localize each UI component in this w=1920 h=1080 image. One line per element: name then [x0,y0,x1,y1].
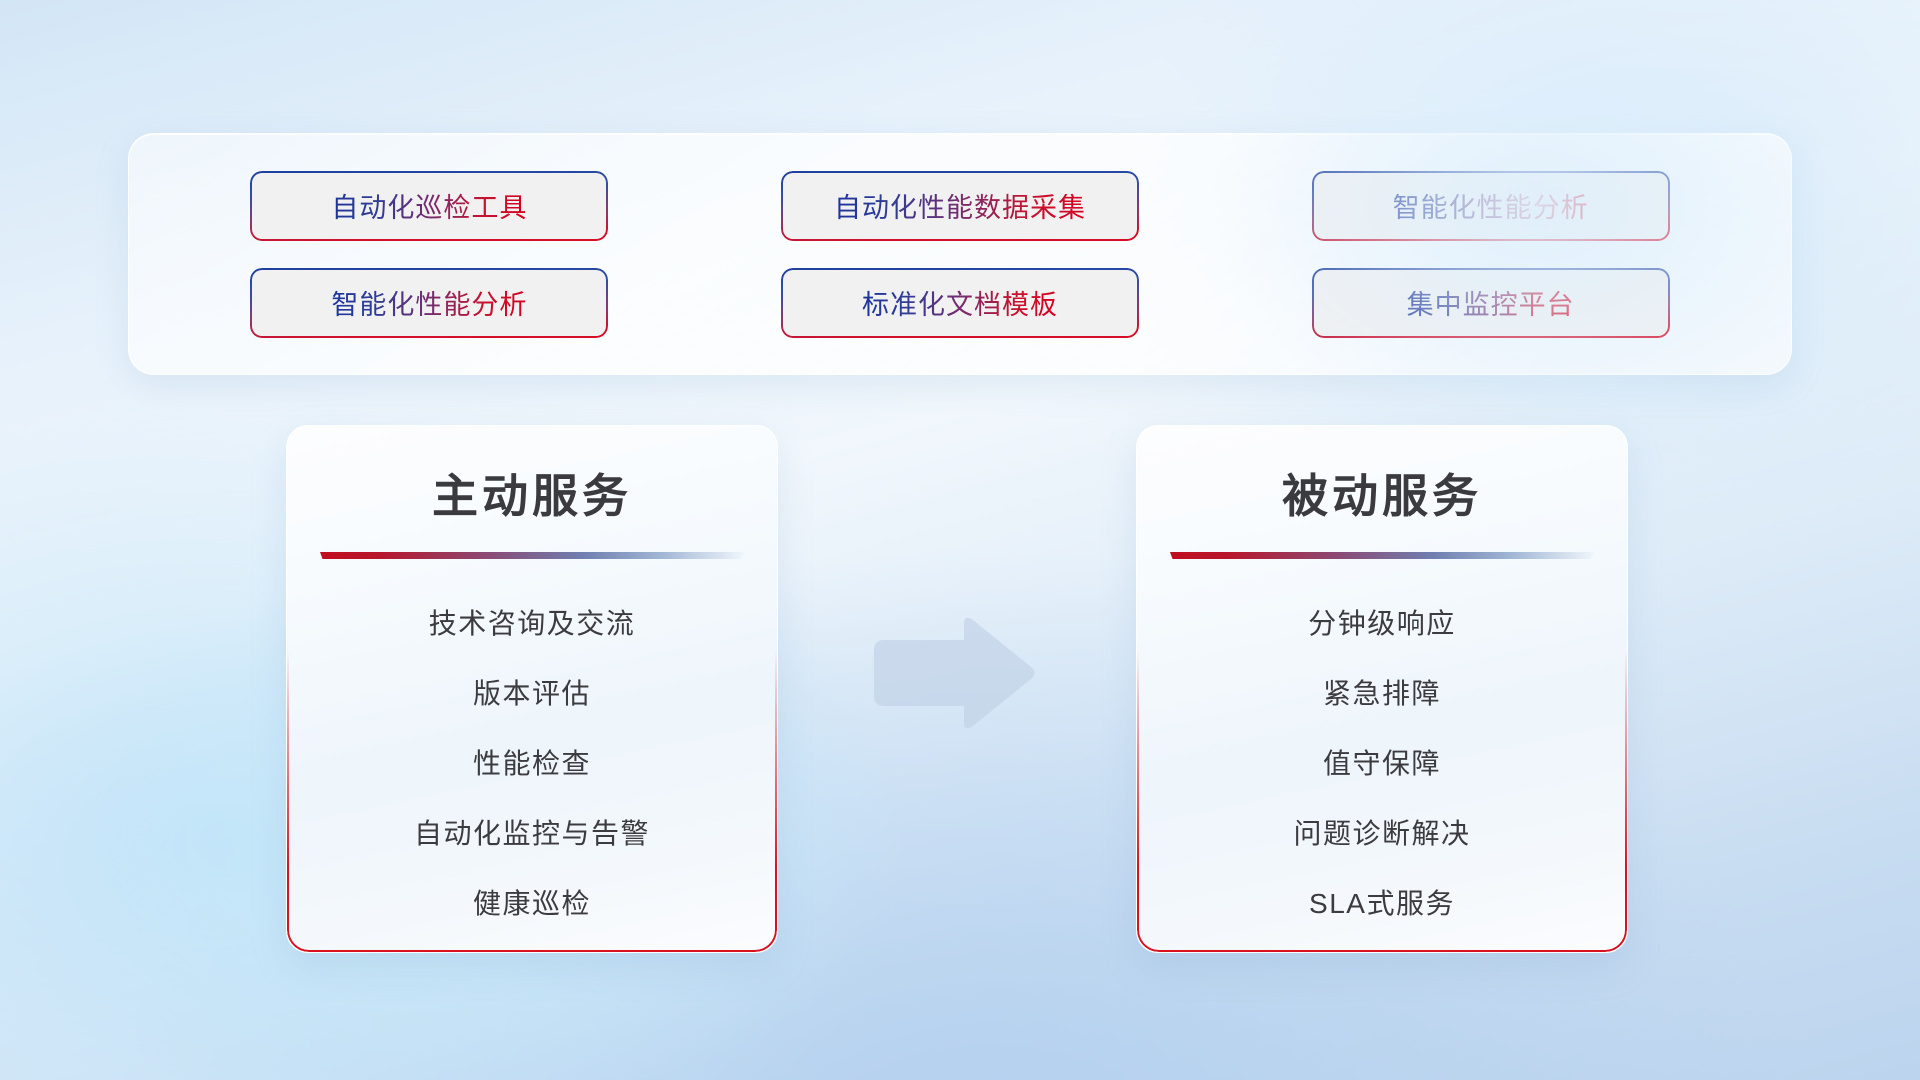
card-divider [320,552,744,559]
capability-tag-label: 自动化性能数据采集 [834,186,1086,225]
service-card-proactive: 主动服务 技术咨询及交流 版本评估 性能检查 自动化监控与告警 健康巡检 [286,425,778,953]
list-item: 版本评估 [287,659,777,729]
service-item-list: 分钟级响应 紧急排障 值守保障 问题诊断解决 SLA式服务 [1137,559,1627,939]
capability-tag-2[interactable]: 自动化性能数据采集 [781,171,1139,241]
card-title: 主动服务 [287,426,777,526]
list-item: 分钟级响应 [1137,589,1627,659]
capability-tag-label: 智能化性能分析 [1393,186,1589,225]
service-item-list: 技术咨询及交流 版本评估 性能检查 自动化监控与告警 健康巡检 [287,559,777,939]
capability-tag-label: 集中监控平台 [1407,283,1575,322]
card-divider [1170,552,1594,559]
capability-tag-1[interactable]: 自动化巡检工具 [250,171,608,241]
list-item: SLA式服务 [1137,869,1627,939]
list-item: 紧急排障 [1137,659,1627,729]
capability-tag-6[interactable]: 集中监控平台 [1312,268,1670,338]
service-card-reactive: 被动服务 分钟级响应 紧急排障 值守保障 问题诊断解决 SLA式服务 [1136,425,1628,953]
list-item: 值守保障 [1137,729,1627,799]
capability-tag-4[interactable]: 智能化性能分析 [250,268,608,338]
list-item: 问题诊断解决 [1137,799,1627,869]
list-item: 性能检查 [287,729,777,799]
capability-tag-label: 智能化性能分析 [331,283,527,322]
capability-tag-label: 自动化巡检工具 [331,186,527,225]
list-item: 技术咨询及交流 [287,589,777,659]
capability-panel: 自动化巡检工具 自动化性能数据采集 智能化性能分析 智能化性能分析 标准化文档模… [128,133,1792,375]
card-title: 被动服务 [1137,426,1627,526]
arrow-right-icon [868,614,1036,732]
list-item: 自动化监控与告警 [287,799,777,869]
capability-tag-3[interactable]: 智能化性能分析 [1312,171,1670,241]
list-item: 健康巡检 [287,869,777,939]
capability-tag-label: 标准化文档模板 [862,283,1058,322]
capability-tag-5[interactable]: 标准化文档模板 [781,268,1139,338]
slide-canvas: 自动化巡检工具 自动化性能数据采集 智能化性能分析 智能化性能分析 标准化文档模… [0,0,1920,1080]
